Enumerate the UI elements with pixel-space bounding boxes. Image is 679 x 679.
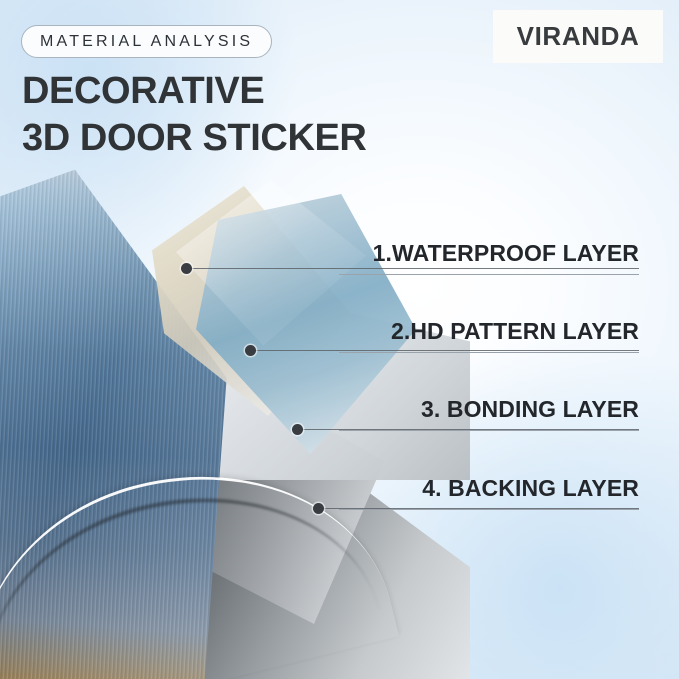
callout-dot-1 xyxy=(181,263,192,274)
layer-label-text-3: 3. BONDING LAYER xyxy=(339,396,639,430)
layer-label-rule-3 xyxy=(339,430,639,431)
layer-label-waterproof: 1.WATERPROOF LAYER xyxy=(339,240,639,275)
eyebrow-pill: MATERIAL ANALYSIS xyxy=(21,25,272,58)
callout-dot-2 xyxy=(245,345,256,356)
headline-line-1: DECORATIVE xyxy=(22,70,264,112)
infographic-poster: MATERIAL ANALYSIS DECORATIVE 3D DOOR STI… xyxy=(0,0,679,679)
layer-label-text-1: 1.WATERPROOF LAYER xyxy=(339,240,639,274)
callout-dot-3 xyxy=(292,424,303,435)
layer-label-bonding: 3. BONDING LAYER xyxy=(339,396,639,431)
page-title: DECORATIVE 3D DOOR STICKER xyxy=(22,68,366,162)
eyebrow-label: MATERIAL ANALYSIS xyxy=(40,33,253,51)
layer-label-text-4: 4. BACKING LAYER xyxy=(339,475,639,509)
callout-dot-4 xyxy=(313,503,324,514)
brand-name: VIRANDA xyxy=(517,21,640,52)
layer-label-hd-pattern: 2.HD PATTERN LAYER xyxy=(339,318,639,353)
headline-line-2: 3D DOOR STICKER xyxy=(22,115,366,162)
layer-label-text-2: 2.HD PATTERN LAYER xyxy=(339,318,639,352)
brand-logo-box: VIRANDA xyxy=(493,10,663,63)
layer-label-rule-2 xyxy=(339,352,639,353)
layer-label-rule-1 xyxy=(339,274,639,275)
layer-label-backing: 4. BACKING LAYER xyxy=(339,475,639,510)
layer-label-rule-4 xyxy=(339,509,639,510)
